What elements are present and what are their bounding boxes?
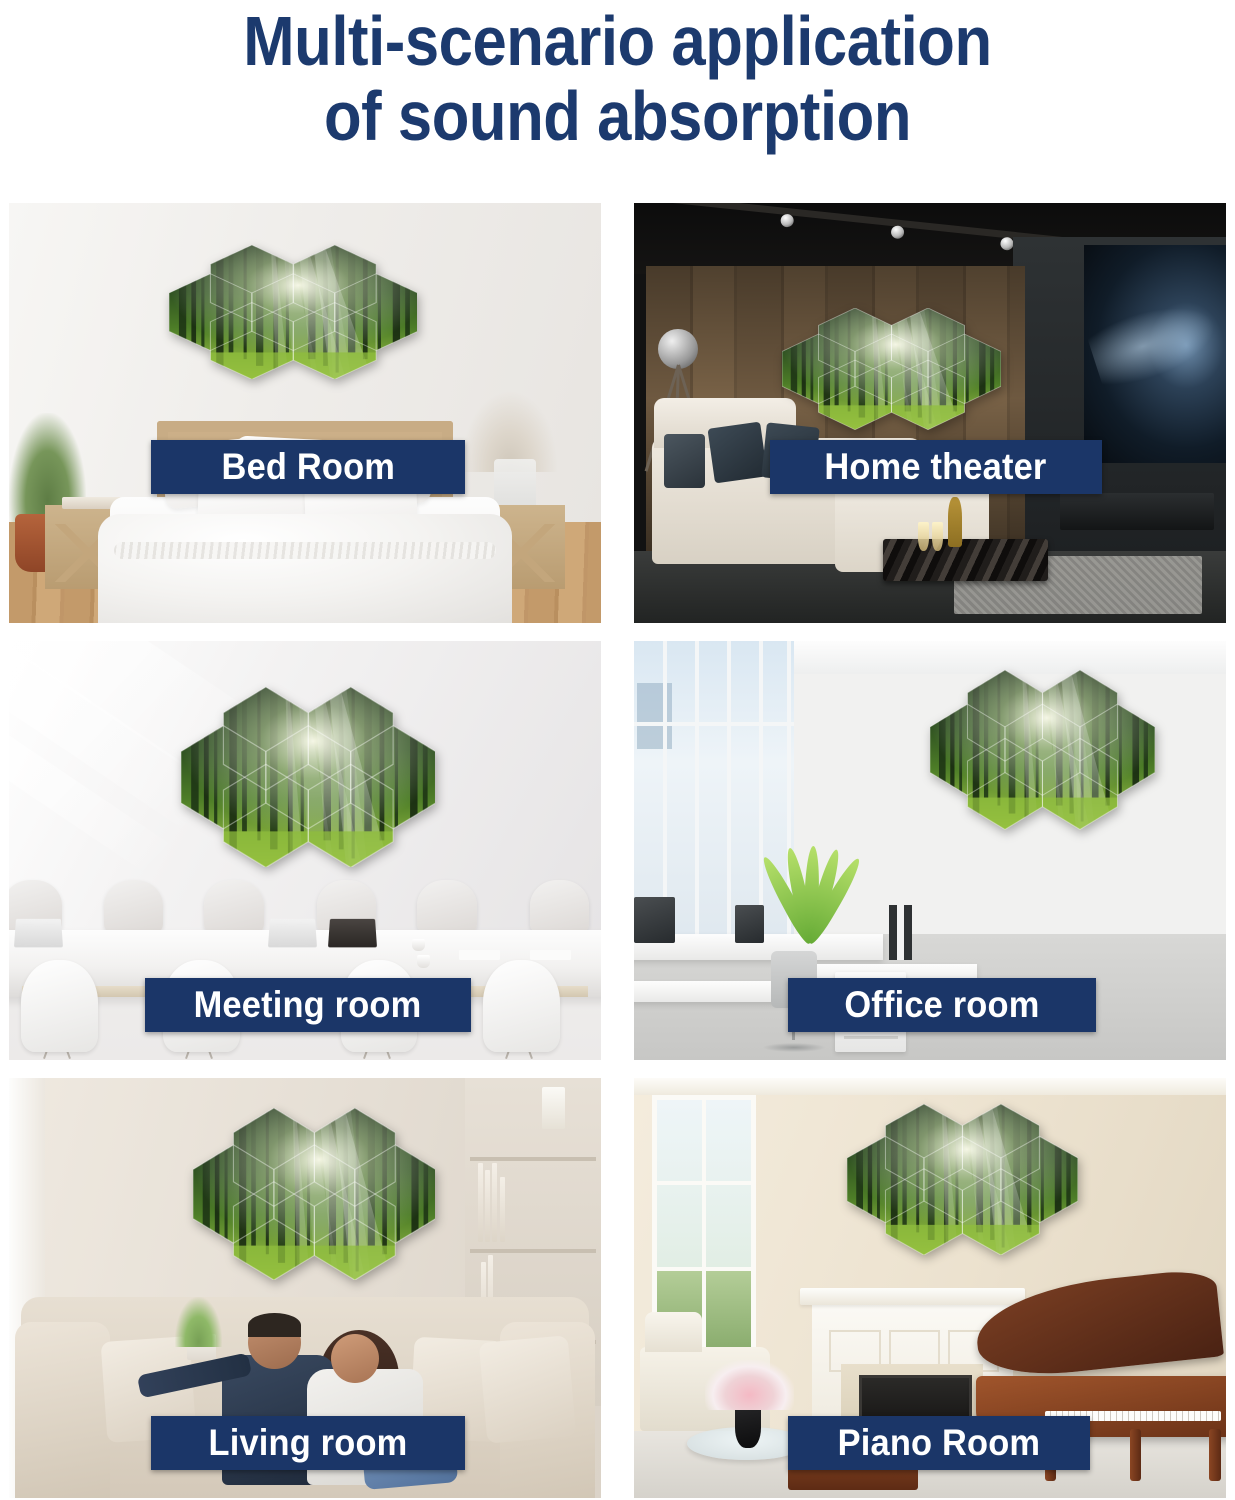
scene-label-home-theater: Home theater [770, 440, 1102, 494]
piano-lid [972, 1267, 1224, 1381]
scene-label-meeting-room: Meeting room [145, 978, 471, 1032]
living-cushion [478, 1335, 575, 1443]
title-line-2: of sound absorption [74, 79, 1161, 154]
shelf-book [492, 1163, 497, 1242]
scene-card-living-room[interactable]: Living room [9, 1078, 601, 1498]
hexagon-panel-svg [193, 1108, 436, 1280]
window-mullion [695, 641, 699, 943]
acoustic-panel-cluster [193, 1108, 436, 1280]
office-green-plant [758, 846, 847, 943]
meeting-laptop [14, 918, 63, 947]
scene-label-bed-room: Bed Room [151, 440, 465, 494]
theater-tv-screen [1084, 245, 1226, 463]
scenario-grid: Bed Room [9, 203, 1226, 1498]
scene-label-piano-room: Piano Room [788, 1416, 1090, 1470]
woman-head [331, 1334, 379, 1383]
scene-card-office-room[interactable]: Office room [634, 641, 1226, 1061]
theater-marble-coffee-table [883, 539, 1049, 581]
office-monitor [634, 897, 675, 943]
home-theater-photo [634, 203, 1226, 623]
man-hair [248, 1313, 300, 1338]
theater-cushion [664, 434, 705, 489]
meeting-chair [417, 880, 476, 935]
acoustic-panel-cluster [930, 670, 1155, 829]
meeting-chair [530, 880, 589, 935]
living-candle [542, 1087, 566, 1129]
meeting-laptop [268, 918, 317, 947]
window-transom [657, 1267, 752, 1271]
acoustic-panel-cluster [181, 687, 436, 867]
acoustic-panel-cluster [847, 1104, 1078, 1255]
product-infographic: Multi-scenario application of sound abso… [0, 0, 1235, 1500]
window-mullion [727, 641, 731, 943]
hexagon-panel-svg [930, 670, 1155, 829]
office-city-view [637, 683, 672, 749]
shelf-book [500, 1177, 505, 1242]
meeting-chair [483, 960, 560, 1052]
hexagon-panel-svg [181, 687, 436, 867]
scene-label-office-room: Office room [788, 978, 1096, 1032]
shelf-book [478, 1163, 483, 1242]
shelf-board [470, 1157, 595, 1161]
acoustic-panel-cluster [782, 308, 1001, 430]
hexagon-panel-svg [169, 245, 418, 379]
piano-pink-flowers [705, 1360, 794, 1410]
piano-leg [1209, 1429, 1220, 1481]
theater-champagne-bottle [948, 497, 962, 547]
hexagon-panel-svg [782, 308, 1001, 430]
window-transom [634, 722, 794, 726]
bed-room-photo [9, 203, 601, 623]
meeting-papers [530, 950, 571, 959]
scene-label-living-room: Living room [151, 1416, 465, 1470]
scene-card-piano-room[interactable]: Piano Room [634, 1078, 1226, 1498]
piano-crown-moulding [634, 1078, 1226, 1095]
acoustic-panel-cluster [169, 245, 418, 379]
scene-card-home-theater[interactable]: Home theater [634, 203, 1226, 623]
hexagon-panel-svg [847, 1104, 1078, 1255]
office-binder [889, 905, 913, 960]
theater-champagne-glass [918, 522, 929, 551]
theater-media-console [1060, 493, 1214, 531]
shelf-board [470, 1249, 595, 1253]
lamp-head [658, 329, 697, 369]
drawer-handle [844, 1036, 898, 1039]
meeting-chair [204, 880, 263, 935]
scene-card-meeting-room[interactable]: Meeting room [9, 641, 601, 1061]
meeting-chair [104, 880, 163, 935]
piano-leg [1130, 1429, 1141, 1481]
window-mullion [702, 1100, 706, 1369]
living-sofa-arm [15, 1322, 110, 1498]
title-line-1: Multi-scenario application [243, 2, 991, 80]
page-title: Multi-scenario application of sound abso… [74, 4, 1161, 154]
living-small-plant [175, 1297, 222, 1347]
window-transom [657, 1181, 752, 1185]
chair-base [763, 1043, 826, 1052]
meeting-coffee-cup [412, 939, 425, 952]
meeting-laptop [328, 918, 377, 947]
theater-cushion [707, 422, 767, 483]
bedroom-duvet [98, 514, 512, 623]
shelf-book [485, 1170, 490, 1242]
scene-card-bed-room[interactable]: Bed Room [9, 203, 601, 623]
meeting-papers [459, 950, 500, 959]
meeting-chair [21, 960, 98, 1052]
theater-champagne-glass [932, 522, 943, 551]
